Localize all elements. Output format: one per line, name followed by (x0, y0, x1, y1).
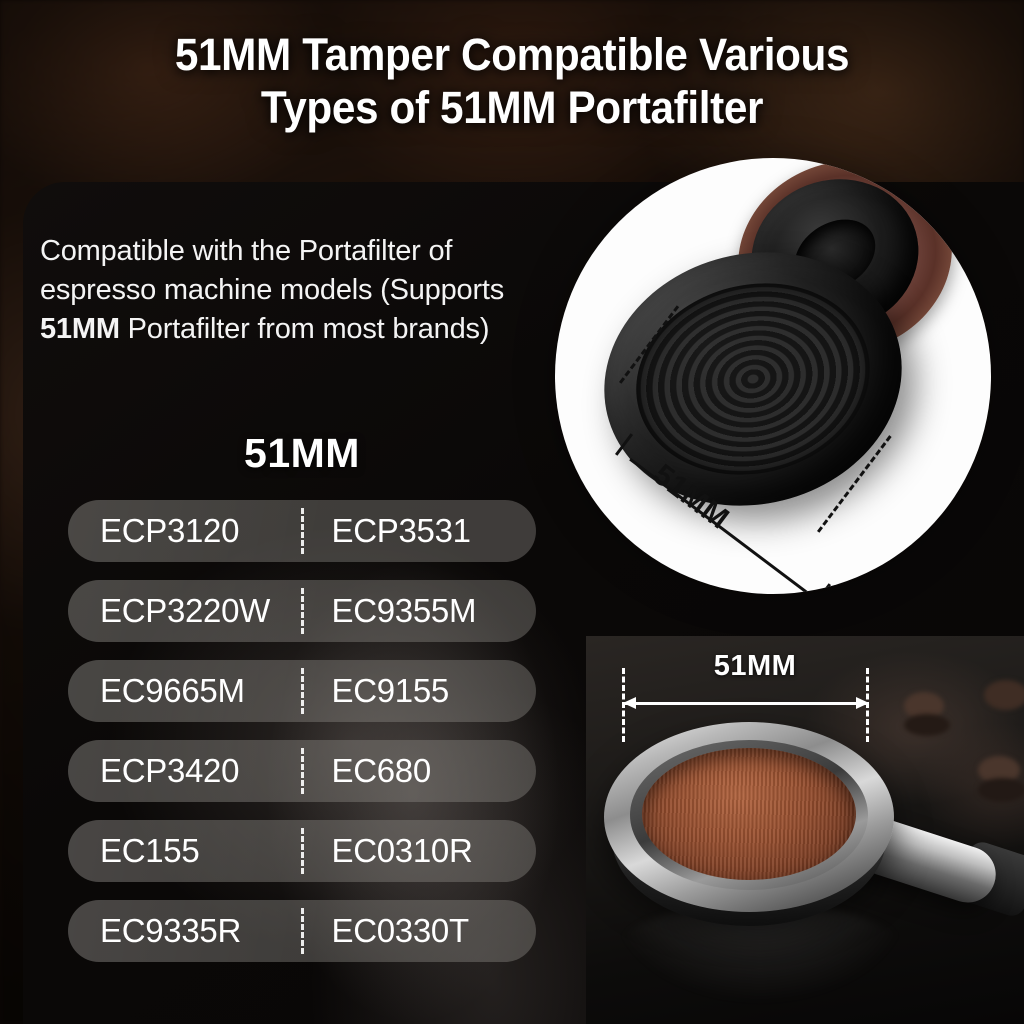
dimension-tick-right (813, 583, 831, 594)
list-item: EC9665M EC9155 (68, 660, 536, 722)
tamped-coffee-puck (642, 748, 856, 880)
description-part-1: Compatible with the Portafilter of espre… (40, 235, 504, 306)
dimension-tick-left (615, 433, 633, 456)
tamper-illustration: 51MM (555, 158, 991, 594)
page-title-line-1: 51MM Tamper Compatible Various (31, 28, 994, 81)
model-code-left: ECP3120 (68, 500, 301, 562)
model-code-right: EC680 (304, 740, 536, 802)
model-code-right: ECP3531 (304, 500, 536, 562)
model-list: ECP3120 ECP3531 ECP3220W EC9355M EC9665M… (68, 500, 536, 962)
coffee-bean (904, 714, 950, 736)
tamper-product-photo: 51MM (555, 158, 991, 594)
model-code-right: EC0330T (304, 900, 536, 962)
description-part-2: Portafilter from most brands) (120, 313, 490, 345)
tamper-dimension-label: 51MM (647, 458, 736, 537)
size-heading: 51MM (68, 430, 536, 477)
model-code-left: ECP3220W (68, 580, 301, 642)
portafilter-dimension-arrow (624, 702, 868, 705)
dimension-extension-line-left (619, 305, 679, 383)
list-item: EC155 EC0310R (68, 820, 536, 882)
coffee-bean (978, 778, 1024, 802)
portafilter-dimension-label: 51MM (612, 650, 898, 683)
model-code-left: EC9335R (68, 900, 301, 962)
model-code-right: EC9355M (304, 580, 536, 642)
model-code-left: EC155 (68, 820, 301, 882)
dimension-extension-line-right (817, 435, 892, 533)
list-item: EC9335R EC0330T (68, 900, 536, 962)
compatibility-description: Compatible with the Portafilter of espre… (40, 232, 560, 349)
model-code-right: EC9155 (304, 660, 536, 722)
tamper-dimension-annotation: 51MM (555, 158, 991, 594)
model-code-left: ECP3420 (68, 740, 301, 802)
model-code-left: EC9665M (68, 660, 301, 722)
list-item: ECP3220W EC9355M (68, 580, 536, 642)
page-title-line-2: Types of 51MM Portafilter (31, 81, 994, 134)
description-highlight: 51MM (40, 313, 120, 345)
coffee-bean (984, 680, 1024, 710)
portafilter-product-photo: 51MM (586, 636, 1024, 1024)
list-item: ECP3120 ECP3531 (68, 500, 536, 562)
list-item: ECP3420 EC680 (68, 740, 536, 802)
page-title: 51MM Tamper Compatible Various Types of … (31, 28, 994, 134)
model-code-right: EC0310R (304, 820, 536, 882)
